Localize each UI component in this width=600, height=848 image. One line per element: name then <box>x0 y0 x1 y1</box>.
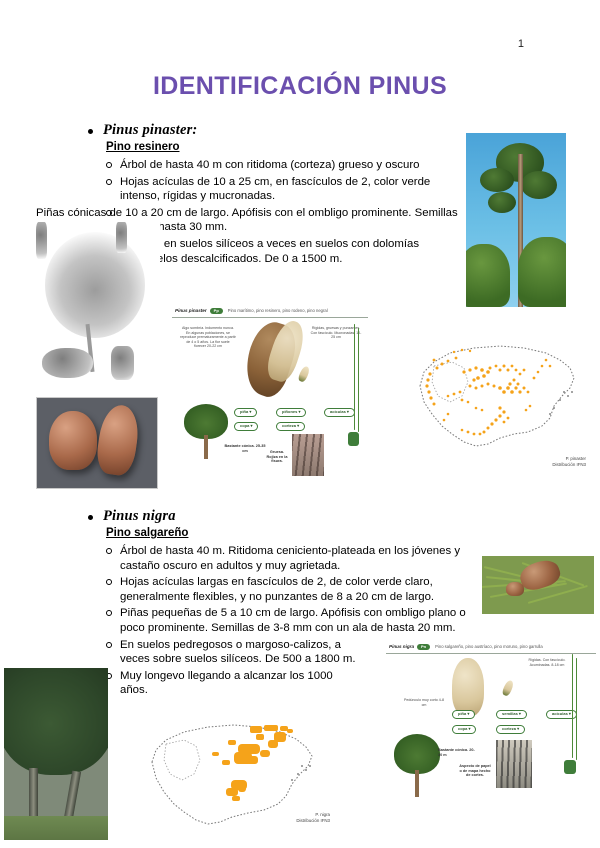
chip-corteza[interactable]: corteza ▾ <box>276 422 305 431</box>
bark-illustration <box>292 434 324 476</box>
map-svg <box>134 720 334 846</box>
infographic-header: Pinus pinaster Pp Pino marítimo, pino re… <box>172 304 368 318</box>
photo-pinaster-tree-sky <box>466 133 566 307</box>
tree-icon <box>184 404 228 458</box>
list-item-text: Hojas acículas largas en fascículos de 2… <box>120 576 434 603</box>
document-page: 1 IDENTIFICACIÓN PINUS Pinus pinaster: P… <box>0 0 600 848</box>
infographic-species-name: Pinus nigra <box>389 644 414 649</box>
list-item: Piñas pequeñas de 5 a 10 cm de largo. Ap… <box>88 606 478 635</box>
trunk-left <box>29 768 38 820</box>
map-caption: P. nigra Distribución IFN3 <box>296 812 330 824</box>
chip-semillas[interactable]: semillas ▾ <box>496 710 527 719</box>
infographic-header: Pinus nigra Pn Pino salgareño, pino aust… <box>386 640 596 654</box>
map-pinaster-distribution: P. pinaster Distribución IFN3 <box>404 322 590 484</box>
list-item: En suelos pedregosos o margoso-calizos, … <box>88 638 360 667</box>
cone-illustration <box>452 658 484 716</box>
tree-trunk <box>204 435 208 459</box>
needle-bundle <box>348 432 359 446</box>
needle-illustration <box>354 324 355 430</box>
ground-area <box>4 816 108 840</box>
map-caption: P. pinaster Distribución IFN3 <box>552 456 586 468</box>
page-number: 1 <box>518 38 524 50</box>
canopy-shape <box>4 668 108 775</box>
chip-aciculas[interactable]: acículas ▾ <box>324 408 355 417</box>
photo-nigra-branch-cone <box>482 556 594 614</box>
list-item: Árbol de hasta 40 m con ritidoma (cortez… <box>88 158 468 173</box>
map-caption-line2: Distribución IFN3 <box>552 462 586 467</box>
hollow-bullet-icon <box>106 548 112 554</box>
photo-nigra-tree <box>4 668 108 840</box>
seed-illustration <box>297 365 311 383</box>
infographic-right-note: Rígidas. Con fascículo. Acuminadas. 8-18… <box>526 658 568 667</box>
chip-copa[interactable]: copa ▾ <box>452 725 476 734</box>
species-heading-row: Pinus pinaster: <box>88 122 468 139</box>
needle-illustration <box>576 658 577 760</box>
chip-corteza[interactable]: corteza ▾ <box>496 725 525 734</box>
list-item: Árbol de hasta 40 m. Ritidoma ceniciento… <box>88 544 478 573</box>
chip-pinones[interactable]: piñones ▾ <box>276 408 306 417</box>
hollow-bullet-icon <box>106 642 112 648</box>
photo-pinaster-cones <box>36 397 158 489</box>
species-name: Pinus pinaster: <box>103 122 197 139</box>
cone-small <box>506 582 524 596</box>
list-item-text: Piñas pequeñas de 5 a 10 cm de largo. Ap… <box>120 607 466 634</box>
illustration-pinaster-engraving <box>32 222 160 392</box>
needle-cluster <box>45 232 145 337</box>
bullet-dot <box>88 515 93 520</box>
list-item-text: En suelos pedregosos o margoso-calizos, … <box>120 639 356 666</box>
list-item: Hojas acículas largas en fascículos de 2… <box>88 575 478 604</box>
map-caption-line2: Distribución IFN3 <box>296 818 330 823</box>
bark-caption: Gruesa. Rojiza en la fisura. <box>264 450 290 464</box>
needle-illustration <box>572 654 573 758</box>
list-item: Hojas acículas de 10 a 25 cm, en fascícu… <box>88 175 468 204</box>
tree-canopy <box>394 734 440 774</box>
tree-icon <box>394 734 440 796</box>
list-item-text: Árbol de hasta 40 m. Ritidoma ceniciento… <box>120 545 460 572</box>
map-nigra-distribution: P. nigra Distribución IFN3 <box>134 720 334 846</box>
infographic-pinus-nigra: Pinus nigra Pn Pino salgareño, pino aust… <box>386 640 596 840</box>
hollow-bullet-icon <box>106 179 112 185</box>
cone-detail <box>42 348 93 379</box>
species-heading-row: Pinus nigra <box>88 508 478 525</box>
infographic-species-name: Pinus pinaster <box>175 308 207 313</box>
chip-pina[interactable]: piña ▾ <box>234 408 257 417</box>
species-badge: Pp <box>210 308 223 314</box>
bark-caption: Aspecto de papel o de mapa hecho de cort… <box>458 764 492 778</box>
tree-caption: Bastante cónica. 25-35 cm <box>224 444 266 453</box>
hollow-bullet-icon <box>106 162 112 168</box>
cone-detail <box>111 346 134 380</box>
bark-illustration <box>496 740 532 788</box>
seed-illustration <box>501 679 515 697</box>
hollow-bullet-icon <box>106 610 112 616</box>
hollow-bullet-icon <box>106 579 112 585</box>
species-name: Pinus nigra <box>103 508 176 525</box>
cone-right <box>95 403 143 478</box>
page-title-part1: IDENTIFICACIÓN <box>153 72 369 100</box>
infographic-pinus-pinaster: Pinus pinaster Pp Pino marítimo, pino re… <box>172 304 368 482</box>
infographic-alt-names: Pino salgareño, pino austríaco, pino mor… <box>435 644 543 649</box>
cone-left <box>49 411 97 470</box>
foliage-shape <box>518 237 566 307</box>
needle-illustration <box>358 328 359 432</box>
list-item-text: Muy longevo llegando a alcanzar los 1000… <box>120 670 333 697</box>
tree-canopy <box>184 404 228 439</box>
infographic-alt-names: Pino marítimo, pino resinero, pino roden… <box>228 308 328 313</box>
crown-shape <box>488 192 516 213</box>
tree-trunk <box>415 770 419 797</box>
common-name: Pino resinero <box>106 141 468 153</box>
cone-detail <box>116 222 126 253</box>
bullet-dot <box>88 129 93 134</box>
needle-bundle <box>564 760 576 774</box>
map-caption-line1: P. nigra <box>315 812 330 817</box>
common-name: Pino salgareño <box>106 527 478 539</box>
hollow-bullet-icon <box>106 210 112 216</box>
page-title: IDENTIFICACIÓN PINUS <box>0 72 600 101</box>
crown-shape <box>521 171 557 199</box>
list-item-text: Árbol de hasta 40 m con ritidoma (cortez… <box>120 159 419 171</box>
list-item: Muy longevo llegando a alcanzar los 1000… <box>88 669 360 698</box>
trunk-right <box>64 771 81 820</box>
infographic-left-note: Pedúnculo muy corto 4-8 cm <box>404 698 444 707</box>
chip-pina[interactable]: piña ▾ <box>452 710 475 719</box>
map-caption-line1: P. pinaster <box>566 456 586 461</box>
foliage-shape <box>466 244 510 307</box>
tree-caption: Bastante cónica. 20-30 m <box>438 748 478 757</box>
cone-detail <box>36 222 48 259</box>
chip-copa[interactable]: copa ▾ <box>234 422 258 431</box>
crown-shape <box>480 168 514 192</box>
list-item-text: Hojas acículas de 10 a 25 cm, en fascícu… <box>120 176 430 203</box>
species-badge: Pn <box>417 644 430 650</box>
infographic-left-note: Algo sombría. Indumento nunca. En alguna… <box>180 326 236 349</box>
page-title-part2: PINUS <box>369 72 447 100</box>
